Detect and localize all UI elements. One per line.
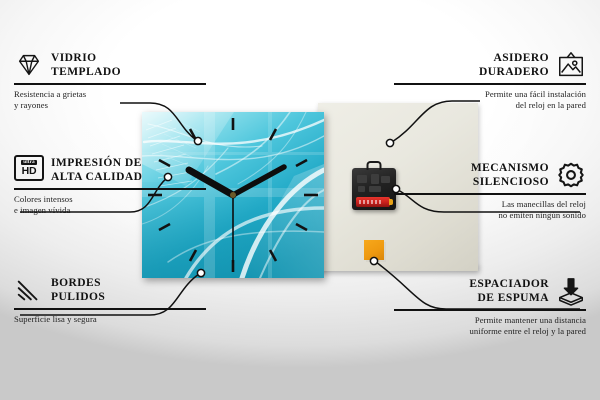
picture-frame-hanger-icon [556, 50, 586, 80]
feature-description: Resistencia a grietas y rayones [14, 89, 206, 112]
mechanism-detail [381, 176, 390, 183]
feature-asidero-duradero: ASIDERO DURADERO Permite una fácil insta… [394, 50, 586, 111]
foam-spacer-arrow-icon [556, 276, 586, 306]
feature-rule [14, 308, 206, 310]
feature-title: VIDRIO TEMPLADO [51, 51, 121, 79]
feature-description: Permite una fácil instalación del reloj … [394, 89, 586, 112]
feature-rule [14, 83, 206, 85]
clock-mechanism [352, 168, 396, 210]
ultra-hd-icon-top-text: ultra [21, 160, 37, 165]
feature-espaciador-de-espuma: ESPACIADOR DE ESPUMA Permite mantener un… [394, 276, 586, 337]
diamond-icon [14, 50, 44, 80]
mechanism-detail [371, 174, 379, 184]
feature-vidrio-templado: VIDRIO TEMPLADO Resistencia a grietas y … [14, 50, 206, 111]
battery-terminal [389, 199, 393, 205]
battery-label [359, 200, 383, 204]
feature-description: Colores intensos e imagen vívida [14, 194, 206, 217]
feature-title: MECANISMO SILENCIOSO [471, 161, 549, 189]
feature-impresion-alta-calidad: ultra HD IMPRESIÓN DE ALTA CALIDAD Color… [14, 155, 206, 216]
mechanism-detail [369, 186, 381, 192]
feature-description: Las manecillas del reloj no emiten ningú… [394, 199, 586, 222]
polished-edges-icon [14, 275, 44, 305]
ultra-hd-icon-main-text: HD [22, 166, 37, 177]
mechanism-hanger-icon [367, 161, 382, 170]
infographic-canvas: VIDRIO TEMPLADO Resistencia a grietas y … [0, 0, 600, 400]
feature-title: BORDES PULIDOS [51, 276, 105, 304]
feature-mecanismo-silencioso: MECANISMO SILENCIOSO Las manecillas del … [394, 160, 586, 221]
foam-spacer-pad [364, 240, 384, 260]
feature-rule [394, 193, 586, 195]
feature-title: IMPRESIÓN DE ALTA CALIDAD [51, 156, 142, 184]
mechanism-detail [357, 175, 367, 183]
feature-description: Superficie lisa y segura [14, 314, 206, 325]
feature-description: Permite mantener una distancia uniforme … [394, 315, 586, 338]
feature-title: ESPACIADOR DE ESPUMA [469, 277, 549, 305]
feature-title: ASIDERO DURADERO [479, 51, 549, 79]
feature-bordes-pulidos: BORDES PULIDOS Superficie lisa y segura [14, 275, 206, 325]
feature-rule [394, 83, 586, 85]
aa-battery [356, 197, 390, 207]
gear-icon [556, 160, 586, 190]
feature-rule [14, 188, 206, 190]
mechanism-detail [358, 186, 365, 192]
ultra-hd-icon: ultra HD [14, 155, 44, 185]
feature-rule [394, 309, 586, 311]
